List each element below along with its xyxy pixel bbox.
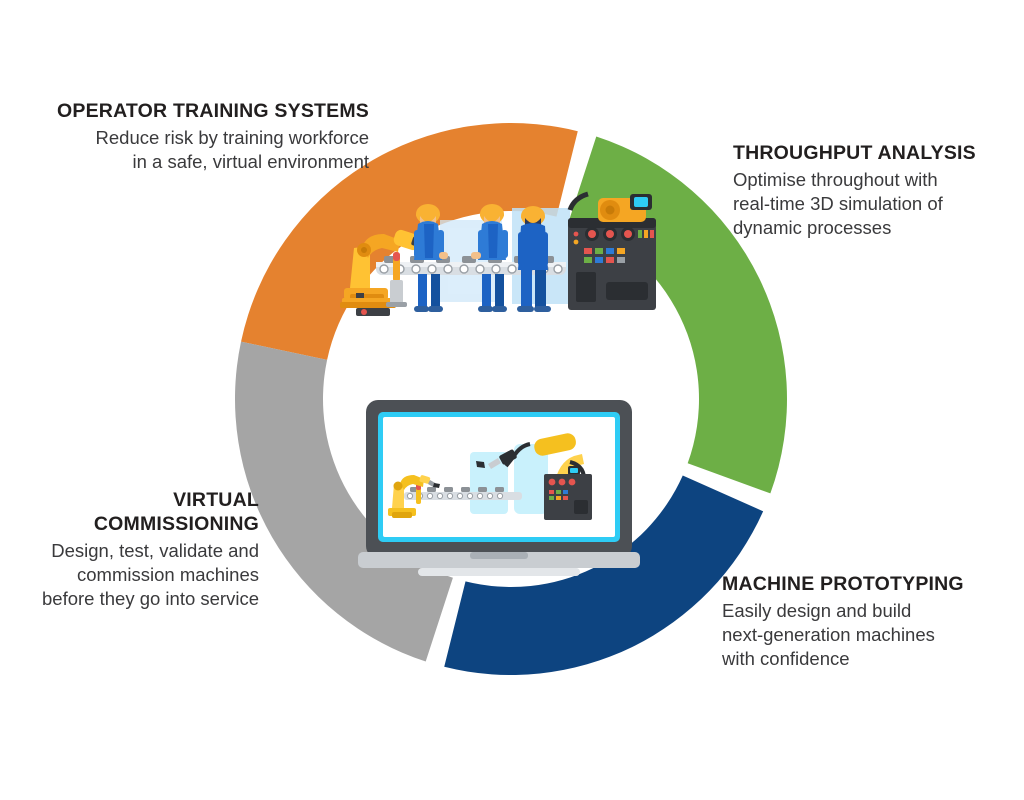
- callout-title: OPERATOR TRAINING SYSTEMS: [29, 100, 369, 124]
- callout-machine-prototyping: MACHINE PROTOTYPING Easily design and bu…: [722, 573, 1022, 671]
- cabinet-knobs: [585, 227, 635, 241]
- factory-automation-illustration: [340, 190, 680, 590]
- right-robot-arm: [570, 194, 652, 222]
- control-cabinet: [568, 218, 656, 310]
- laptop-foot: [418, 568, 580, 576]
- callout-throughput-analysis: THROUGHPUT ANALYSIS Optimise throughout …: [733, 142, 1023, 240]
- factory-scene: [340, 194, 656, 316]
- callout-body: Design, test, validate and commission ma…: [0, 539, 259, 611]
- cabinet-leds: [638, 230, 654, 238]
- callout-operator-training: OPERATOR TRAINING SYSTEMS Reduce risk by…: [29, 100, 369, 174]
- callout-body: Reduce risk by training workforce in a s…: [29, 126, 369, 174]
- infographic-canvas: OPERATOR TRAINING SYSTEMS Reduce risk by…: [0, 0, 1024, 800]
- callout-title: VIRTUAL COMMISSIONING: [0, 489, 259, 537]
- callout-title: MACHINE PROTOTYPING: [722, 573, 1022, 597]
- laptop: [358, 400, 640, 576]
- callout-body: Easily design and build next-generation …: [722, 599, 1022, 671]
- laptop-trackpad-notch: [470, 552, 528, 559]
- screen-cabinet: [544, 474, 592, 520]
- callout-body: Optimise throughout with real-time 3D si…: [733, 168, 1023, 240]
- callout-virtual-commissioning: VIRTUAL COMMISSIONING Design, test, vali…: [0, 489, 259, 611]
- callout-title: THROUGHPUT ANALYSIS: [733, 142, 1023, 166]
